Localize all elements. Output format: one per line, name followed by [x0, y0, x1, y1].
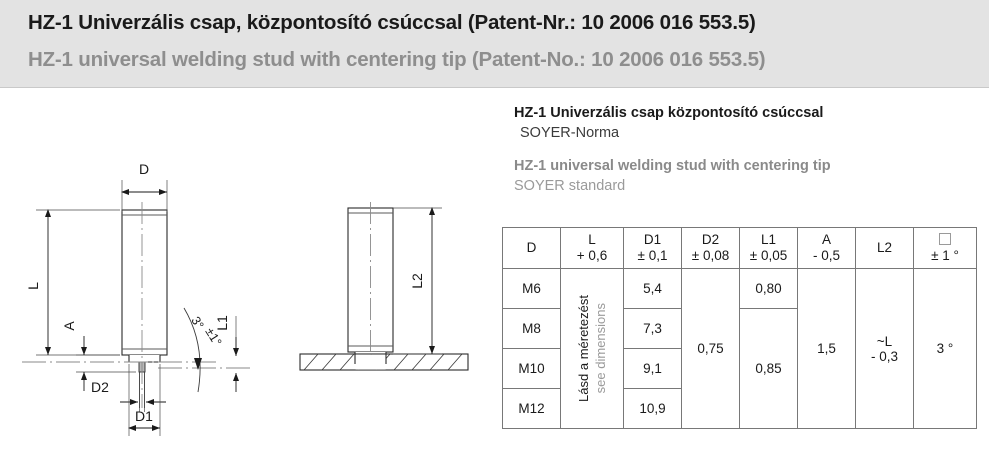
header-tolerance: + 0,6 — [561, 248, 623, 264]
label-d2: D2 — [91, 379, 109, 395]
header-tolerance: ± 0,05 — [740, 248, 797, 264]
header-cell-d2: D2 ± 0,08 — [682, 228, 740, 269]
cell-angle-all: 3 ° — [914, 269, 977, 429]
header-cell-angularity: ± 1 ° — [914, 228, 977, 269]
cell-d-m10: M10 — [503, 349, 561, 389]
header-label: L — [561, 232, 623, 248]
drawing-stud-welded-to-plate: L2 — [282, 188, 492, 383]
specification-table: D L + 0,6 D1 ± 0,1 D2 ± 0,08 L1 ± 0,05 A — [502, 227, 977, 429]
header-tolerance: ± 0,08 — [682, 248, 739, 264]
caption-hungarian-standard: SOYER-Norma — [520, 123, 984, 143]
rotated-note-group: Lásd a méretezést see dimensions — [561, 269, 623, 428]
header-cell-d: D — [503, 228, 561, 269]
drawing-stud-with-centering-tip: D L A L1 3° ±1° D2 D1 — [8, 140, 288, 450]
caption-block: HZ-1 Univerzális csap központosító csúcc… — [514, 104, 984, 196]
stud-shank — [122, 210, 167, 355]
caption-spacer — [514, 143, 984, 157]
cell-d1-m10: 9,1 — [624, 349, 682, 389]
label-d1: D1 — [135, 408, 153, 424]
caption-english-standard: SOYER standard — [514, 176, 984, 196]
header-cell-d1: D1 ± 0,1 — [624, 228, 682, 269]
header-label: L2 — [856, 240, 913, 256]
header-label: D — [503, 240, 560, 256]
l2-value-top: ~L — [856, 334, 913, 349]
cell-d-m6: M6 — [503, 269, 561, 309]
cell-d1-m8: 7,3 — [624, 309, 682, 349]
title-band: HZ-1 Univerzális csap, központosító csúc… — [0, 0, 989, 88]
l-note-hungarian: Lásd a méretezést — [576, 295, 591, 402]
header-cell-a: A - 0,5 — [798, 228, 856, 269]
label-angle: 3° — [188, 314, 206, 332]
header-label: D2 — [682, 232, 739, 248]
l2-value-bottom: - 0,3 — [856, 349, 913, 364]
cell-d2-all: 0,75 — [682, 269, 740, 429]
square-symbol-icon — [914, 232, 976, 248]
cell-l2-all: ~L - 0,3 — [856, 269, 914, 429]
header-tolerance: ± 1 ° — [914, 248, 976, 264]
label-l: L — [25, 282, 41, 290]
cell-l-note: Lásd a méretezést see dimensions — [561, 269, 624, 429]
page-title-english: HZ-1 universal welding stud with centeri… — [28, 48, 765, 72]
label-l2: L2 — [409, 273, 425, 289]
caption-english-title: HZ-1 universal welding stud with centeri… — [514, 157, 984, 176]
label-a: A — [61, 321, 77, 331]
table-header-row: D L + 0,6 D1 ± 0,1 D2 ± 0,08 L1 ± 0,05 A — [503, 228, 977, 269]
cell-d-m8: M8 — [503, 309, 561, 349]
header-cell-l2: L2 — [856, 228, 914, 269]
cell-d1-m12: 10,9 — [624, 389, 682, 429]
foot-hatch-mask — [356, 355, 386, 370]
header-tolerance: - 0,5 — [798, 248, 855, 264]
cell-d-m12: M12 — [503, 389, 561, 429]
header-label: A — [798, 232, 855, 248]
header-cell-l1: L1 ± 0,05 — [740, 228, 798, 269]
cell-l1-rest: 0,85 — [740, 309, 798, 429]
cell-d1-m6: 5,4 — [624, 269, 682, 309]
header-cell-l: L + 0,6 — [561, 228, 624, 269]
cell-l1-m6: 0,80 — [740, 269, 798, 309]
label-d: D — [139, 161, 149, 177]
header-label: L1 — [740, 232, 797, 248]
header-tolerance: ± 0,1 — [624, 248, 681, 264]
cell-a-all: 1,5 — [798, 269, 856, 429]
page-title-hungarian: HZ-1 Univerzális csap, központosító csúc… — [28, 11, 756, 35]
table-row: M6 Lásd a méretezést see dimensions 5,4 … — [503, 269, 977, 309]
caption-hungarian-title: HZ-1 Univerzális csap központosító csúcc… — [514, 104, 984, 123]
header-label: D1 — [624, 232, 681, 248]
stud-weld-base — [129, 355, 160, 362]
l-note-english: see dimensions — [593, 303, 608, 393]
